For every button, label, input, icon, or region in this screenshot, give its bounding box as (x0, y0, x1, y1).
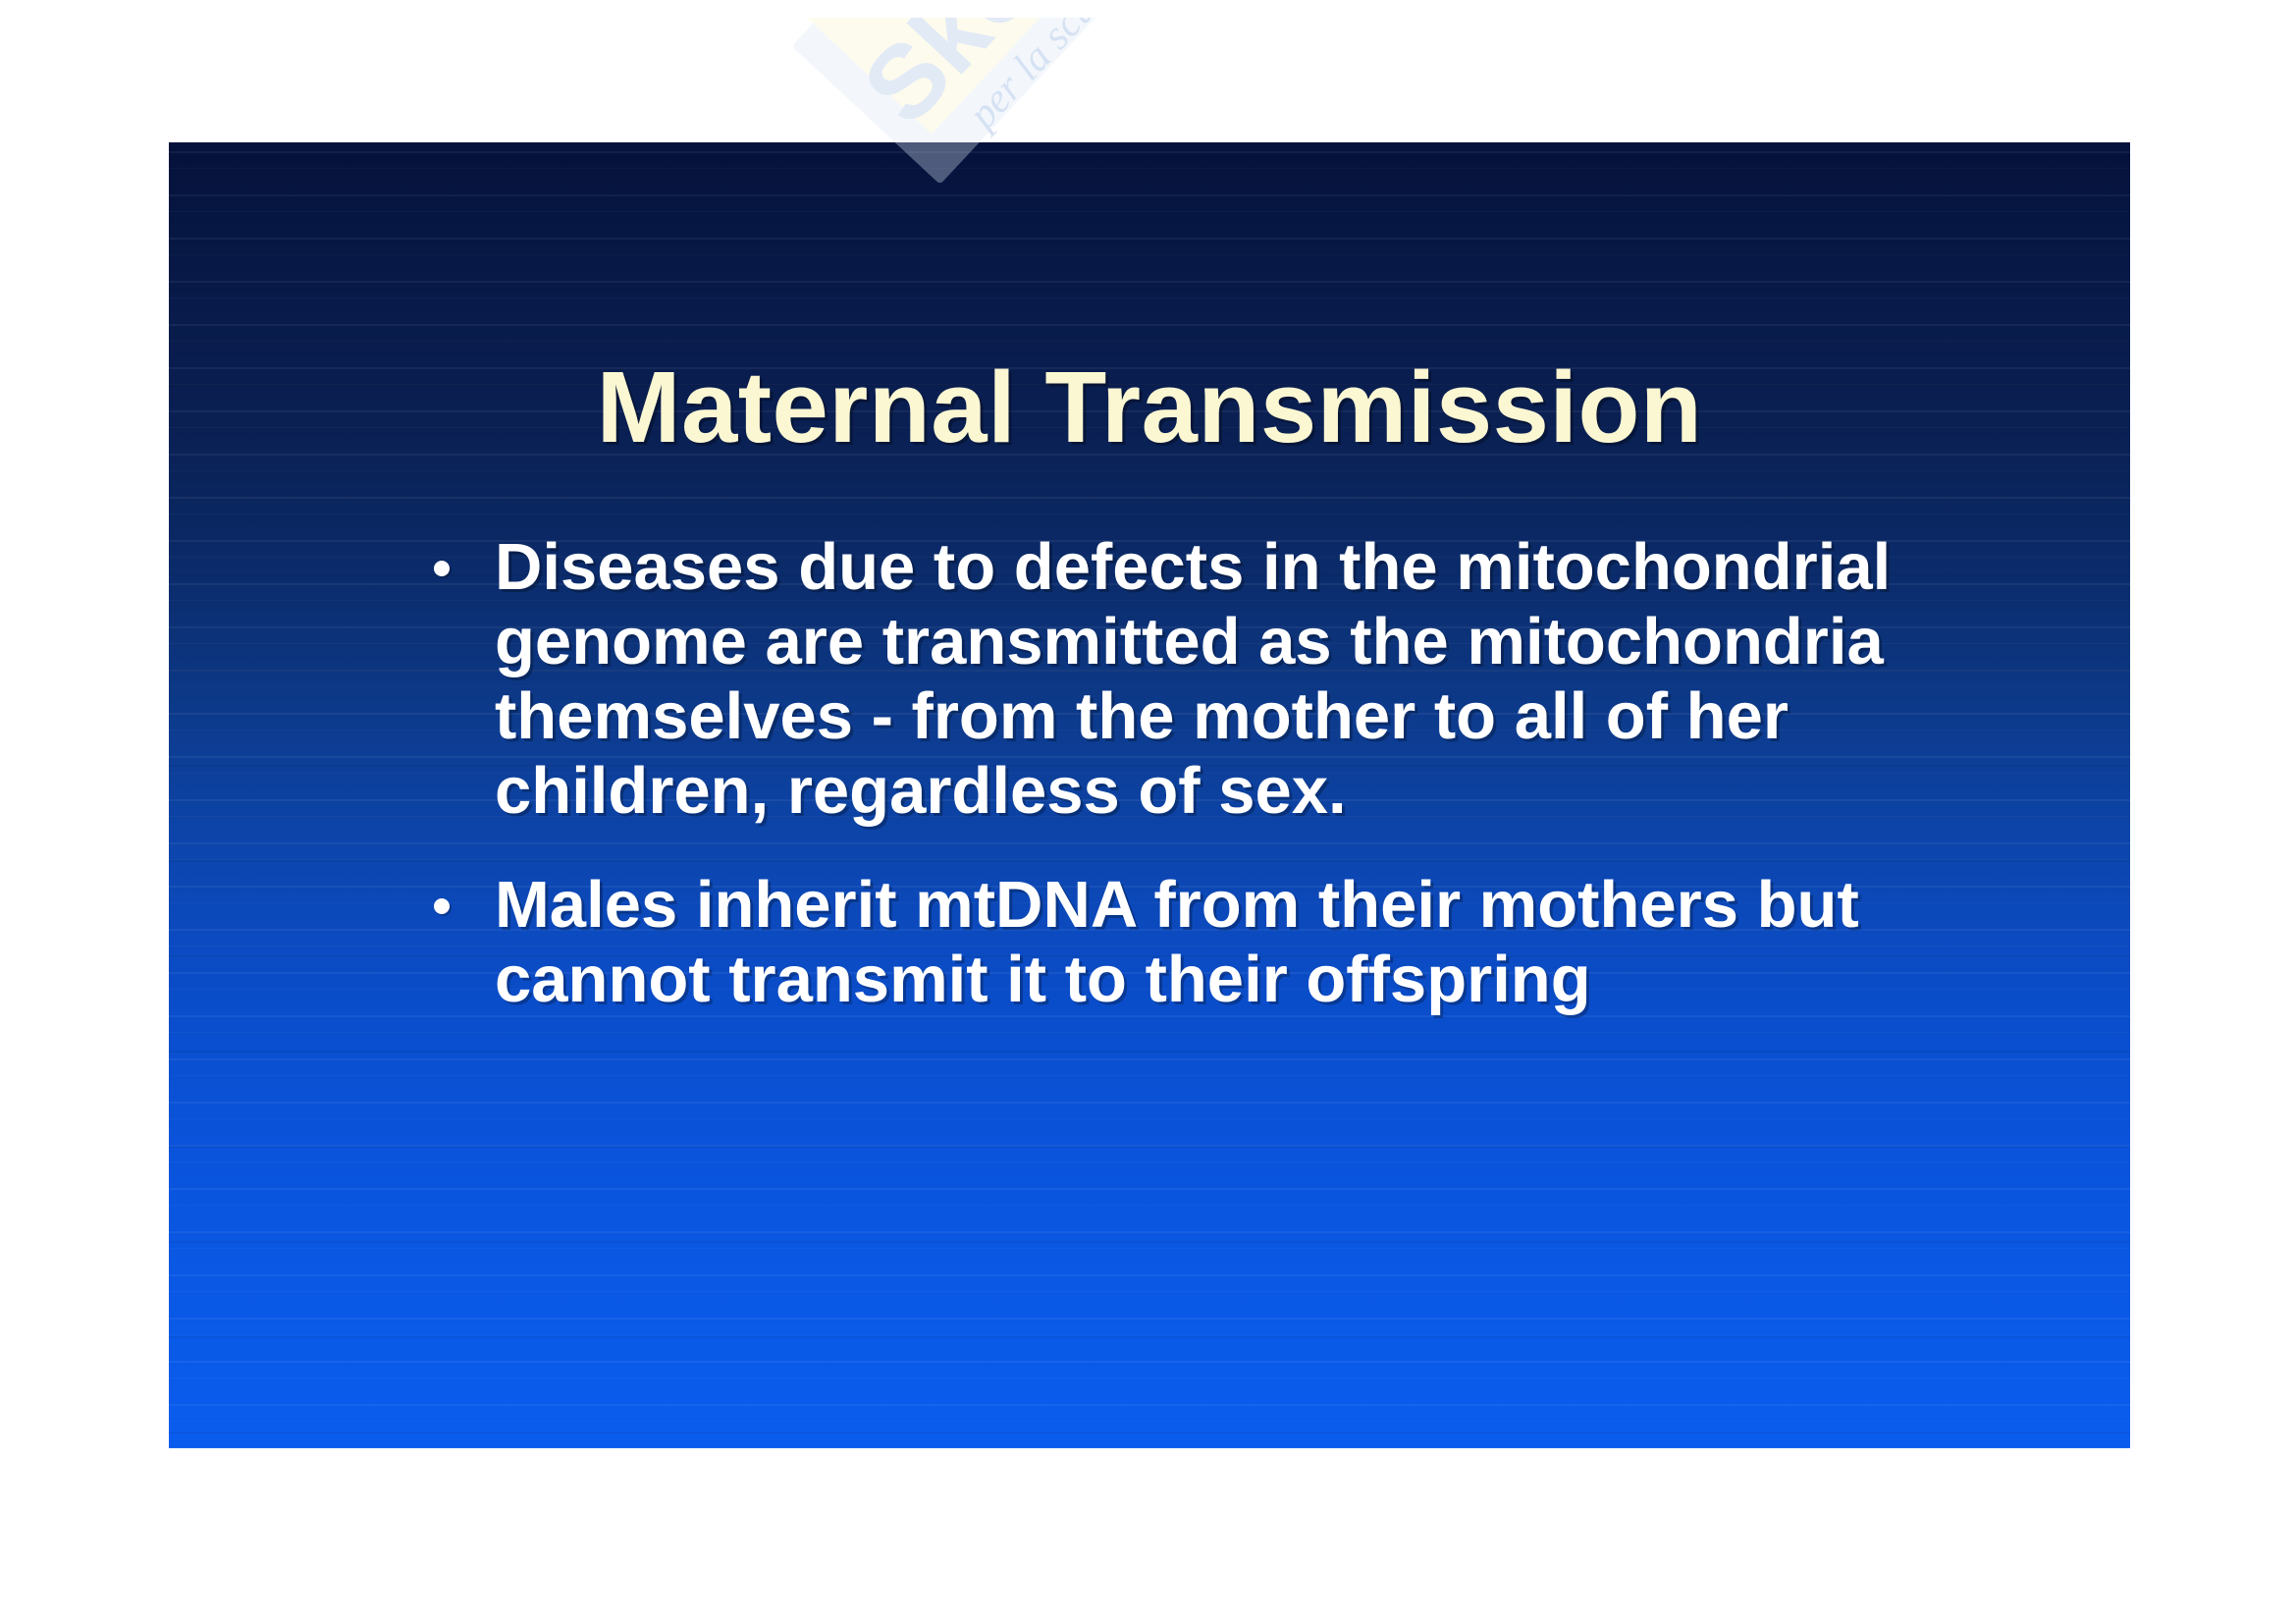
bullet-item-1-text: Diseases due to defects in the mitochond… (495, 530, 1993, 829)
slide-bullet-list: Diseases due to defects in the mitochond… (422, 530, 1993, 1017)
bullet-dot-icon (434, 561, 450, 576)
presentation-slide: Maternal Transmission Diseases due to de… (169, 142, 2130, 1448)
page-canvas: Maternal Transmission Diseases due to de… (0, 0, 2296, 1623)
slide-content: Maternal Transmission Diseases due to de… (169, 142, 2130, 1448)
bullet-dot-icon (434, 898, 450, 914)
bullet-item-1: Diseases due to defects in the mitochond… (422, 530, 1993, 829)
bullet-item-2: Males inherit mtDNA from their mothers b… (422, 868, 1993, 1017)
slide-title: Maternal Transmission (169, 355, 2130, 459)
bullet-item-2-text: Males inherit mtDNA from their mothers b… (495, 868, 1993, 1017)
